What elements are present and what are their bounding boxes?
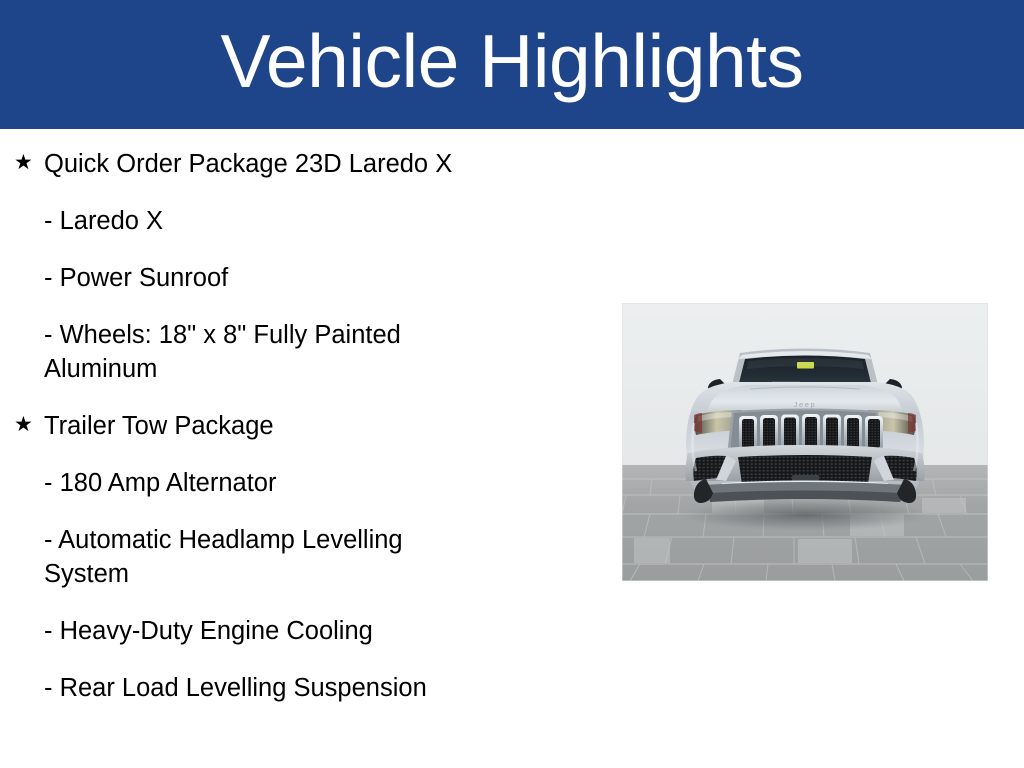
vehicle-shadow (677, 499, 933, 531)
highlight-group-label: Quick Order Package 23D Laredo X (44, 147, 452, 181)
grille-slot (865, 416, 883, 451)
vehicle-front-photo: Jeep (622, 303, 988, 581)
highlight-sub-label: - Power Sunroof (44, 261, 228, 295)
highlight-sub-label: - Wheels: 18" x 8" Fully Painted Aluminu… (44, 318, 484, 386)
highlight-sub-row: - Rear Load Levelling Suspension (0, 671, 600, 705)
highlight-sub-row: - Automatic Headlamp Levelling System (0, 523, 600, 591)
grille-slot (739, 416, 757, 451)
highlight-sub-label: - Heavy-Duty Engine Cooling (44, 614, 373, 648)
highlight-group-row: ★ Trailer Tow Package (0, 409, 600, 443)
highlight-sub-label: - Rear Load Levelling Suspension (44, 671, 427, 705)
star-bullet-icon: ★ (14, 147, 44, 178)
vehicle-highlights-list: ★ Quick Order Package 23D Laredo X - Lar… (0, 129, 600, 728)
brand-wordmark: Jeep (794, 400, 817, 409)
highlight-group-row: ★ Quick Order Package 23D Laredo X (0, 147, 600, 181)
highlight-group-label: Trailer Tow Package (44, 409, 274, 443)
grille-slot (844, 415, 862, 451)
highlight-sub-label: - Laredo X (44, 204, 163, 238)
highlight-sub-row: - Wheels: 18" x 8" Fully Painted Aluminu… (0, 318, 600, 386)
star-bullet-icon: ★ (14, 409, 44, 440)
page-title: Vehicle Highlights (220, 24, 803, 105)
highlight-sub-row: - Laredo X (0, 204, 600, 238)
highlight-sub-row: - 180 Amp Alternator (0, 466, 600, 500)
highlight-sub-label: - Automatic Headlamp Levelling System (44, 523, 484, 591)
headlight-right-turnsignal (908, 413, 916, 433)
highlight-sub-label: - 180 Amp Alternator (44, 466, 276, 500)
headlight-left-turnsignal (694, 413, 702, 433)
highlight-sub-row: - Heavy-Duty Engine Cooling (0, 614, 600, 648)
vehicle-front-photo-graphic: Jeep (622, 303, 988, 581)
highlight-sub-row: - Power Sunroof (0, 261, 600, 295)
page-header-band: Vehicle Highlights (0, 0, 1024, 129)
